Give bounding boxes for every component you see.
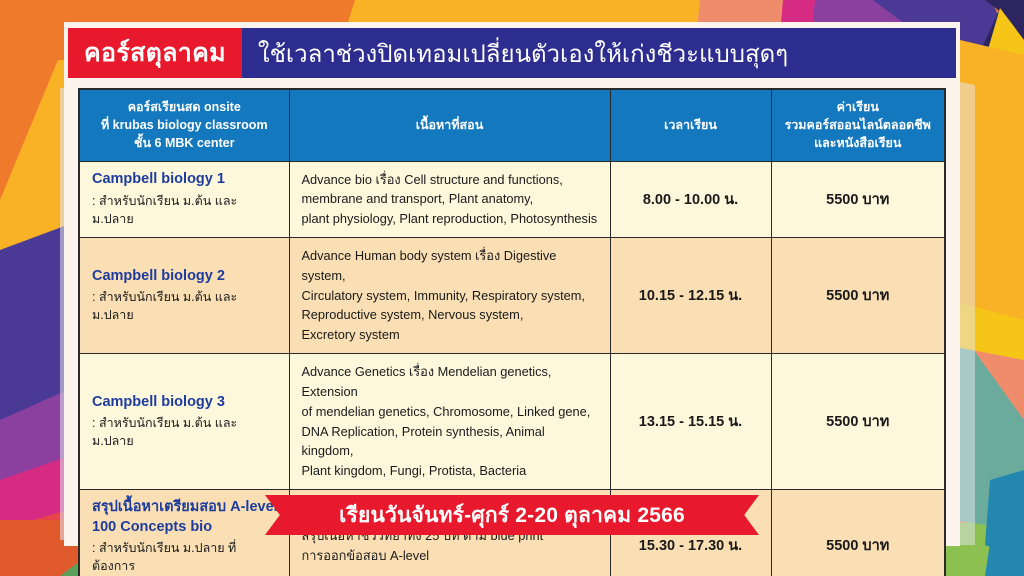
column-header-time: เวลาเรียน: [610, 89, 771, 161]
course-cell: Campbell biology 3 : สำหรับนักเรียน ม.ต้…: [79, 354, 289, 490]
table-row: Campbell biology 1 : สำหรับนักเรียน ม.ต้…: [79, 161, 945, 237]
content-cell: Advance Genetics เรื่อง Mendelian geneti…: [289, 354, 610, 490]
schedule-ribbon: เรียนวันจันทร์-ศุกร์ 2-20 ตุลาคม 2566: [265, 495, 759, 535]
course-subtitle: : สำหรับนักเรียน ม.ต้น และ ม.ปลาย: [92, 192, 279, 228]
column-header-content: เนื้อหาที่สอน: [289, 89, 610, 161]
column-header-price: ค่าเรียน รวมคอร์สออนไลน์ตลอดชีพ และหนังส…: [771, 89, 945, 161]
time-cell: 8.00 - 10.00 น.: [610, 161, 771, 237]
price-cell: 5500 บาท: [771, 237, 945, 353]
poster-canvas: คอร์สตุลาคม ใช้เวลาช่วงปิดเทอมเปลี่ยนตัว…: [0, 0, 1024, 576]
title-bar: คอร์สตุลาคม ใช้เวลาช่วงปิดเทอมเปลี่ยนตัว…: [68, 28, 956, 78]
time-cell: 10.15 - 12.15 น.: [610, 237, 771, 353]
table-row: Campbell biology 3 : สำหรับนักเรียน ม.ต้…: [79, 354, 945, 490]
course-title: Campbell biology 3: [92, 393, 279, 413]
price-cell: 5500 บาท: [771, 354, 945, 490]
content-cell: Advance Human body system เรื่อง Digesti…: [289, 237, 610, 353]
ribbon-body: เรียนวันจันทร์-ศุกร์ 2-20 ตุลาคม 2566: [265, 495, 759, 535]
course-title: Campbell biology 1: [92, 170, 279, 190]
course-title: สรุปเนื้อหาเตรียมสอบ A-level 100 Concept…: [92, 498, 279, 537]
course-month-badge: คอร์สตุลาคม: [68, 28, 242, 78]
price-cell: 5500 บาท: [771, 161, 945, 237]
table-header-row: คอร์สเรียนสด onsite ที่ krubas biology c…: [79, 89, 945, 161]
course-subtitle: : สำหรับนักเรียน ม.ต้น และ ม.ปลาย: [92, 288, 279, 324]
ribbon-label: เรียนวันจันทร์-ศุกร์ 2-20 ตุลาคม 2566: [339, 499, 685, 532]
content-cell: Advance bio เรื่อง Cell structure and fu…: [289, 161, 610, 237]
course-cell: Campbell biology 1 : สำหรับนักเรียน ม.ต้…: [79, 161, 289, 237]
price-cell: 5500 บาท: [771, 490, 945, 576]
column-header-course: คอร์สเรียนสด onsite ที่ krubas biology c…: [79, 89, 289, 161]
time-cell: 13.15 - 15.15 น.: [610, 354, 771, 490]
course-cell: สรุปเนื้อหาเตรียมสอบ A-level 100 Concept…: [79, 490, 289, 576]
table-row: Campbell biology 2 : สำหรับนักเรียน ม.ต้…: [79, 237, 945, 353]
course-subtitle: : สำหรับนักเรียน ม.ปลาย ที่ต้องการ เตรีย…: [92, 539, 279, 576]
headline-text: ใช้เวลาช่วงปิดเทอมเปลี่ยนตัวเองให้เก่งชี…: [242, 28, 956, 78]
course-subtitle: : สำหรับนักเรียน ม.ต้น และ ม.ปลาย: [92, 414, 279, 450]
course-cell: Campbell biology 2 : สำหรับนักเรียน ม.ต้…: [79, 237, 289, 353]
course-title: Campbell biology 2: [92, 267, 279, 287]
